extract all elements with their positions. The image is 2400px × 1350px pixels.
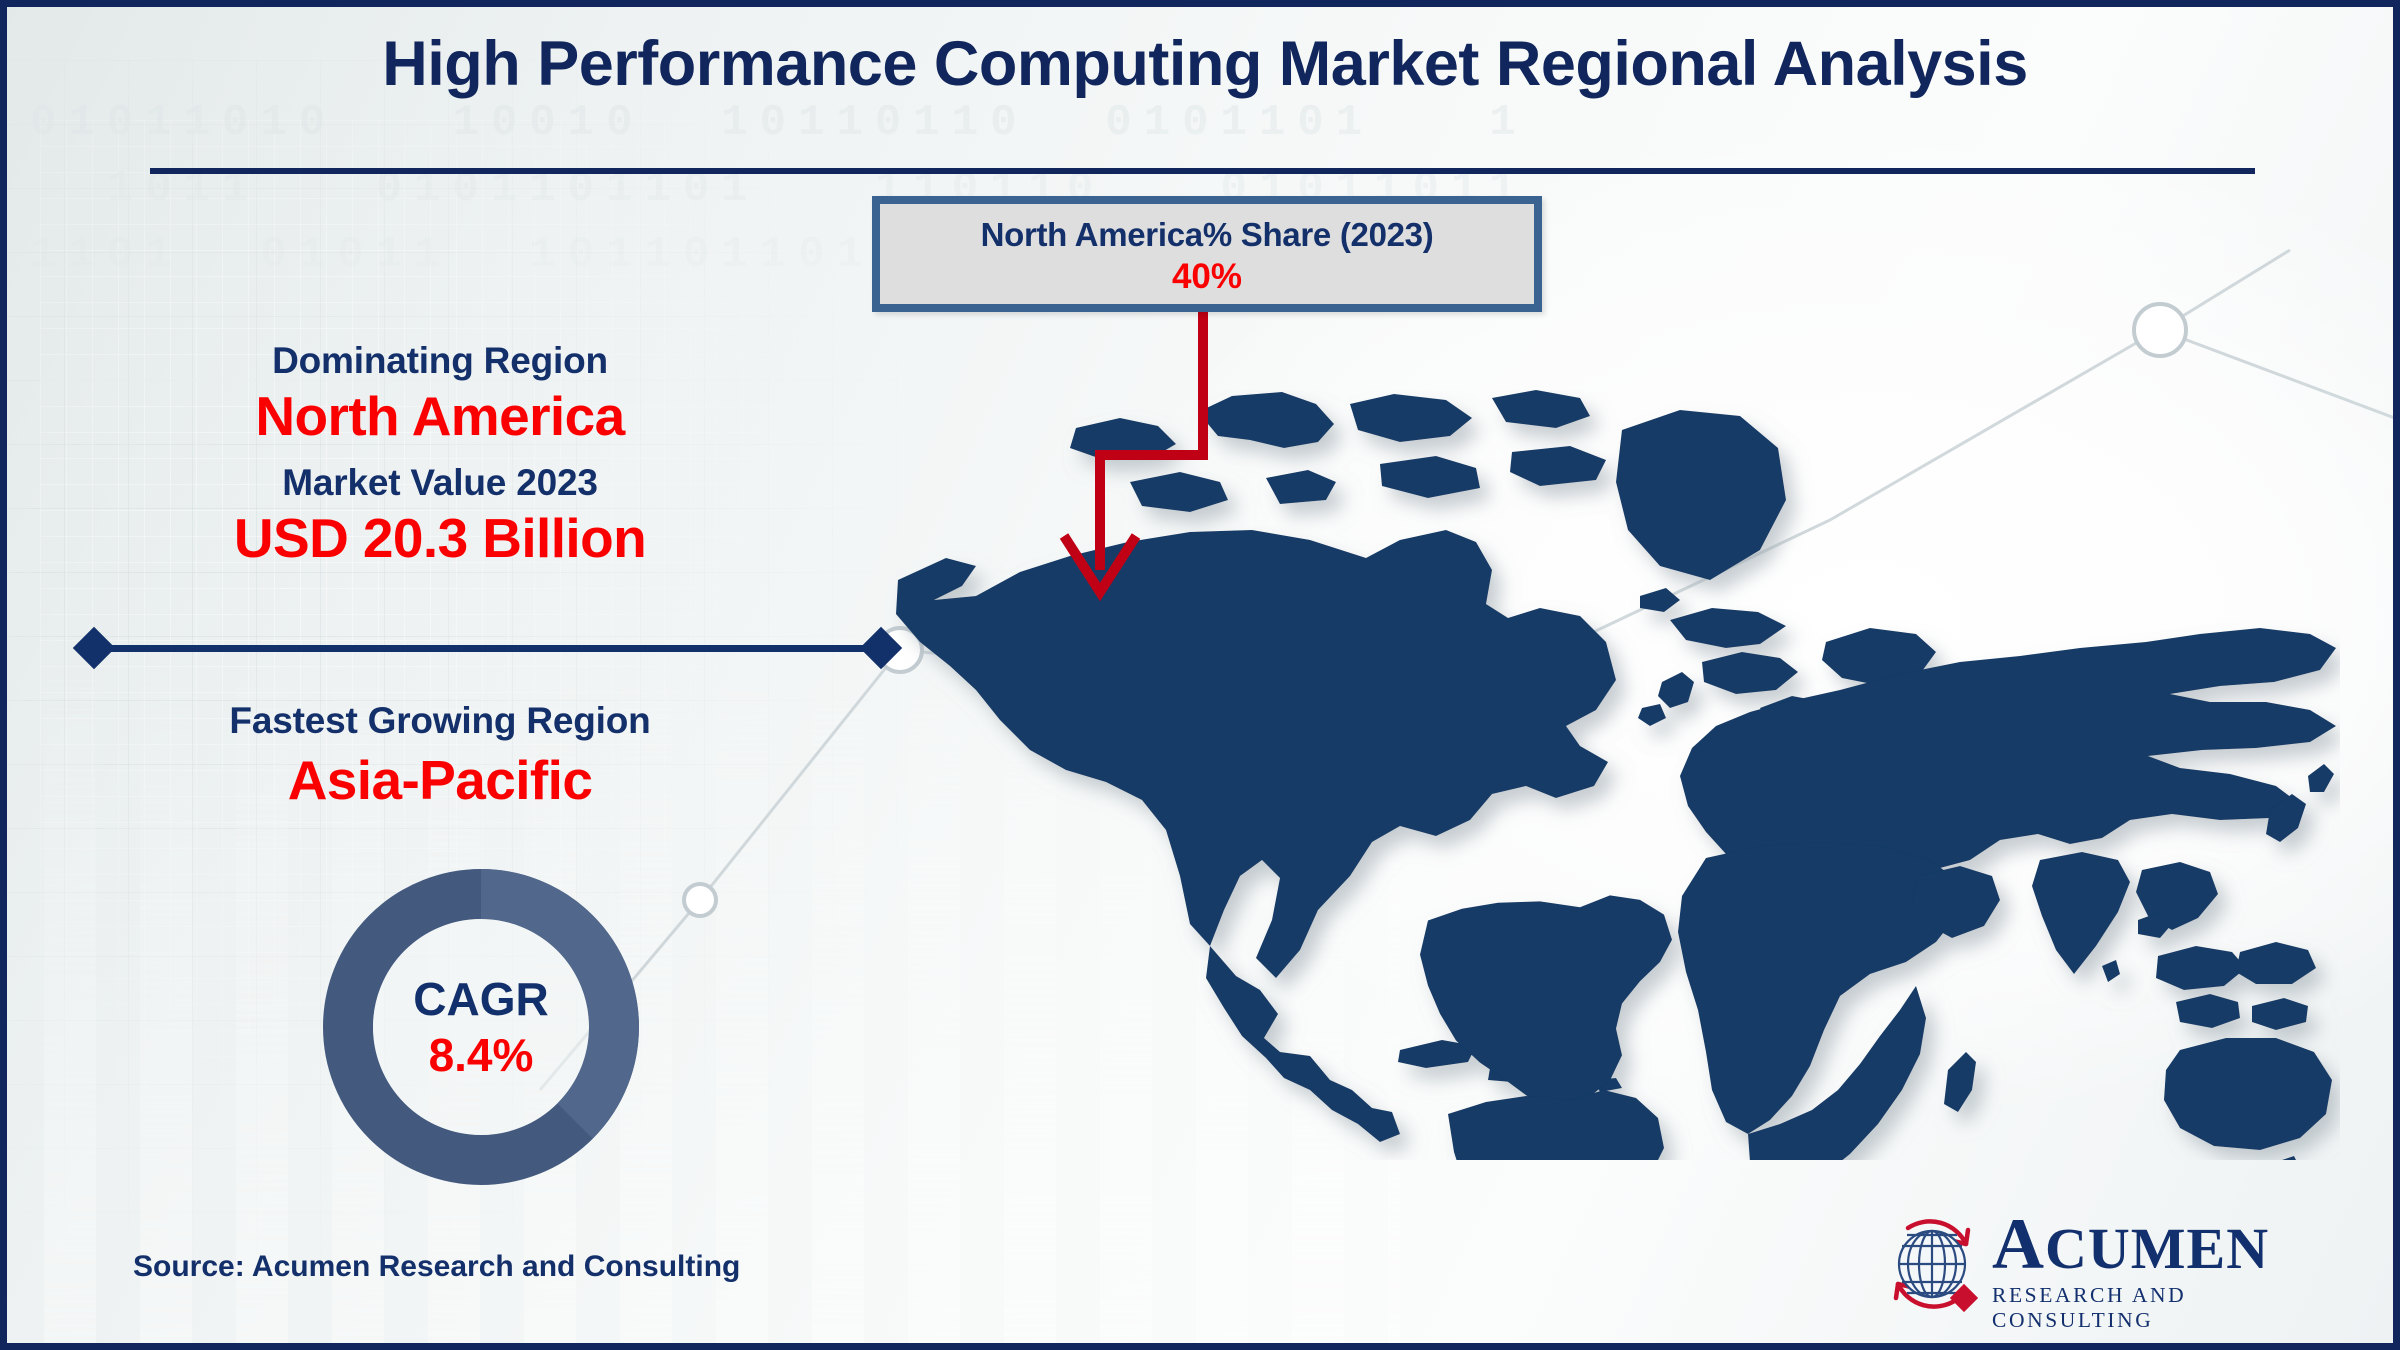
fastest-growing-value: Asia-Pacific bbox=[60, 748, 820, 812]
dominating-region-block: Dominating Region North America Market V… bbox=[60, 340, 820, 570]
callout-value: 40% bbox=[880, 257, 1534, 297]
section-divider-line bbox=[90, 645, 880, 652]
logo-name-initial: A bbox=[1992, 1204, 2045, 1284]
logo-wordmark: ACUMEN RESEARCH AND CONSULTING bbox=[1992, 1212, 2310, 1333]
callout-box-north-america-share: North America% Share (2023) 40% bbox=[872, 196, 1542, 312]
title-divider bbox=[150, 168, 2255, 174]
acumen-logo: ACUMEN RESEARCH AND CONSULTING bbox=[1880, 1212, 2310, 1317]
logo-name: ACUMEN bbox=[1992, 1212, 2310, 1281]
cagr-donut-chart: CAGR 8.4% bbox=[316, 862, 646, 1192]
logo-tagline: RESEARCH AND CONSULTING bbox=[1992, 1283, 2310, 1333]
fastest-growing-region-block: Fastest Growing Region Asia-Pacific bbox=[60, 700, 820, 812]
dominating-region-value: North America bbox=[60, 384, 820, 448]
cagr-label: CAGR bbox=[413, 976, 548, 1022]
globe-icon bbox=[1880, 1214, 1984, 1314]
market-value-value: USD 20.3 Billion bbox=[60, 506, 820, 570]
cagr-donut-center: CAGR 8.4% bbox=[316, 862, 646, 1192]
cagr-value: 8.4% bbox=[429, 1032, 534, 1078]
dominating-region-label: Dominating Region bbox=[60, 340, 820, 382]
logo-name-rest: CUMEN bbox=[2045, 1216, 2269, 1281]
infographic-canvas: 01011010 10010 10110110 0101101 11011 10… bbox=[0, 0, 2400, 1350]
callout-pointer-arrow bbox=[1040, 300, 1280, 630]
callout-title: North America% Share (2023) bbox=[880, 216, 1534, 254]
source-note: Source: Acumen Research and Consulting bbox=[133, 1250, 740, 1284]
market-value-label: Market Value 2023 bbox=[60, 462, 820, 504]
fastest-growing-label: Fastest Growing Region bbox=[60, 700, 820, 742]
page-title: High Performance Computing Market Region… bbox=[60, 28, 2350, 100]
